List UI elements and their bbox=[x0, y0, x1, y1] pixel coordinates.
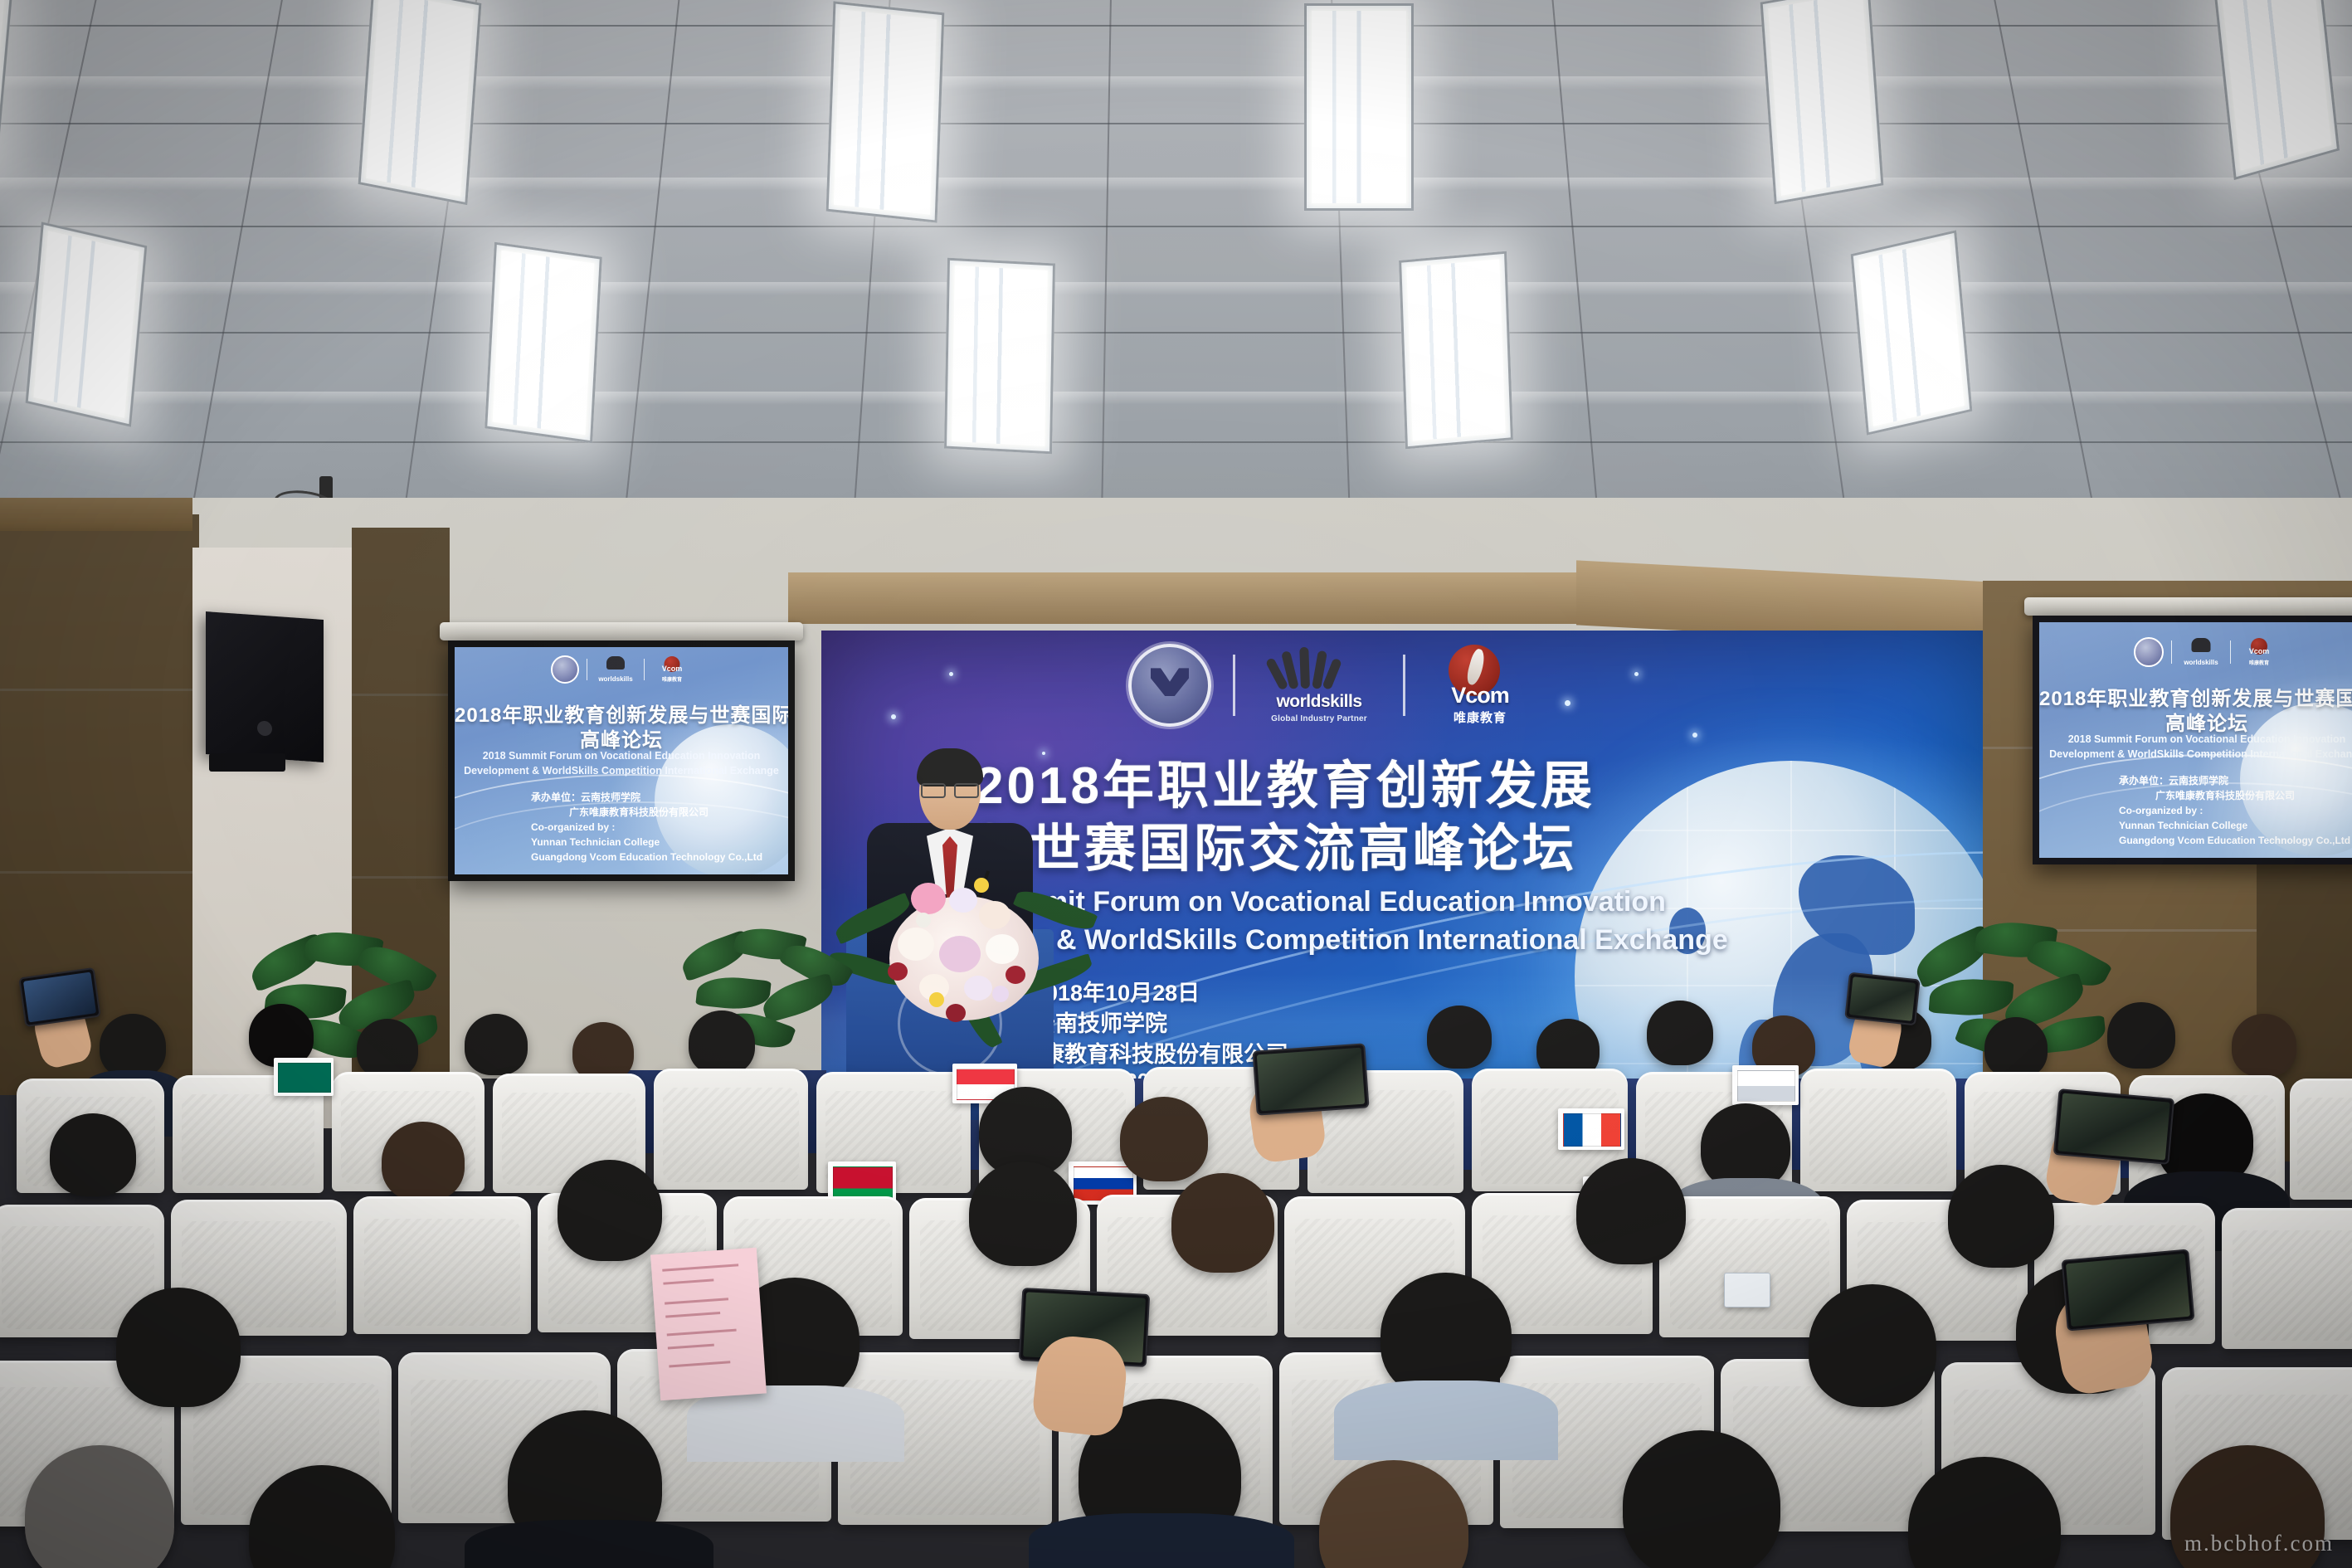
flag-icon bbox=[1737, 1070, 1796, 1102]
audience-head bbox=[1171, 1173, 1274, 1273]
vcom-chinese-name: 唯康教育 bbox=[1427, 709, 1533, 726]
audience-head bbox=[689, 1010, 755, 1075]
agenda-handout bbox=[650, 1248, 767, 1401]
slide-info-cn-host1: 承办单位：云南技师学院 bbox=[2119, 773, 2228, 787]
attendee-badge bbox=[1724, 1273, 1770, 1307]
worldskills-wordmark: worldskills bbox=[2179, 659, 2223, 666]
flag-macau-icon bbox=[278, 1063, 331, 1093]
slide-info-cn-host2: 广东唯康教育科技股份有限公司 bbox=[569, 805, 709, 819]
screen-frame-left: worldskills Vcom 唯康教育 2018年职业教育创新发展与世赛国际… bbox=[448, 640, 795, 881]
slide-left: worldskills Vcom 唯康教育 2018年职业教育创新发展与世赛国际… bbox=[455, 647, 788, 874]
vcom-wordmark: Vcom bbox=[1427, 683, 1533, 709]
slide-info-en-label: Co-organized by : bbox=[2119, 805, 2203, 816]
vcom-chinese-name: 唯康教育 bbox=[2238, 659, 2280, 666]
seat bbox=[654, 1069, 808, 1190]
audience-head bbox=[1120, 1097, 1208, 1181]
banner-logo-row: worldskills Global Industry Partner Vcom… bbox=[1128, 644, 1533, 727]
seat bbox=[2222, 1208, 2352, 1349]
phone-screen bbox=[2057, 1093, 2170, 1160]
seat bbox=[1659, 1196, 1840, 1337]
worldskills-logo-icon: worldskills Global Industry Partner bbox=[1257, 645, 1381, 725]
seat bbox=[2290, 1079, 2352, 1200]
vcom-logo-icon: Vcom 唯康教育 bbox=[1427, 645, 1533, 726]
worldskills-tagline: Global Industry Partner bbox=[1257, 714, 1381, 723]
slide-info-cn-host1: 承办单位：云南技师学院 bbox=[531, 790, 640, 804]
college-badge-icon bbox=[2134, 637, 2164, 667]
speaker-hair bbox=[917, 748, 983, 786]
audience-head bbox=[1948, 1165, 2054, 1268]
smartphone bbox=[2062, 1249, 2195, 1331]
screen-frame-right: worldskills Vcom 唯康教育 2018年职业教育创新发展与世赛国际… bbox=[2033, 616, 2352, 864]
slide-title-en-line1: 2018 Summit Forum on Vocational Educatio… bbox=[2039, 733, 2352, 745]
audience-head bbox=[1647, 1001, 1713, 1065]
slide-logo-row-left: worldskills Vcom 唯康教育 bbox=[455, 655, 788, 684]
vcom-logo-icon: Vcom 唯康教育 bbox=[2238, 638, 2280, 666]
phone-screen bbox=[23, 972, 96, 1023]
watermark-text: m.bcbhof.com bbox=[2184, 1531, 2334, 1556]
worldskills-logo-icon: worldskills bbox=[595, 656, 636, 683]
seat bbox=[1800, 1069, 1956, 1191]
slide-info-cn-host2: 广东唯康教育科技股份有限公司 bbox=[2155, 788, 2295, 802]
phone-screen bbox=[1849, 976, 1916, 1021]
flag-france-icon bbox=[1563, 1113, 1622, 1147]
audience-head bbox=[558, 1160, 662, 1261]
slide-title-en-line1: 2018 Summit Forum on Vocational Educatio… bbox=[455, 750, 788, 762]
slide-logo-row-right: worldskills Vcom 唯康教育 bbox=[2039, 637, 2352, 667]
worldskills-wordmark: worldskills bbox=[1257, 692, 1381, 712]
delegation-flag-card-france bbox=[1558, 1108, 1624, 1150]
smartphone bbox=[1252, 1043, 1369, 1115]
ceiling-light bbox=[1304, 3, 1414, 211]
audience-shoulders bbox=[1334, 1381, 1558, 1460]
smartphone bbox=[18, 967, 100, 1027]
audience-head bbox=[1809, 1284, 1936, 1407]
left-projection-screen: worldskills Vcom 唯康教育 2018年职业教育创新发展与世赛国际… bbox=[448, 640, 795, 881]
screen-roller-right bbox=[2024, 597, 2352, 616]
delegation-flag-card bbox=[1732, 1065, 1799, 1105]
slide-info-en-host1: Yunnan Technician College bbox=[531, 836, 660, 848]
smartphone bbox=[2053, 1088, 2174, 1165]
audience-head bbox=[382, 1122, 465, 1201]
slide-title-en-line2: Development & WorldSkills Competition In… bbox=[2039, 748, 2352, 760]
audience-head bbox=[1623, 1430, 1780, 1568]
ceiling-light bbox=[1760, 0, 1884, 204]
screen-roller-left bbox=[440, 622, 803, 640]
yunnan-technician-college-logo-icon bbox=[1128, 644, 1211, 727]
speaker-driver bbox=[257, 721, 272, 737]
audience-head bbox=[969, 1161, 1077, 1266]
slide-title-cn-line2: 高峰论坛 bbox=[455, 723, 788, 752]
slide-info-en-host2: Guangdong Vcom Education Technology Co.,… bbox=[531, 851, 762, 863]
audience-head bbox=[2232, 1014, 2296, 1077]
wall-speaker bbox=[206, 611, 324, 762]
smartphone bbox=[1844, 972, 1920, 1026]
ceiling-light bbox=[826, 1, 945, 222]
audience-head bbox=[1984, 1017, 2048, 1079]
audience-shoulders bbox=[687, 1385, 904, 1462]
audience-head bbox=[2107, 1002, 2175, 1069]
ceiling-light bbox=[2213, 0, 2340, 180]
ceiling-beam bbox=[788, 572, 1701, 624]
phone-screen bbox=[1257, 1048, 1365, 1112]
raised-hand bbox=[1030, 1333, 1130, 1439]
logo-divider-2 bbox=[1403, 655, 1405, 716]
logo-divider bbox=[1233, 655, 1235, 716]
slide-title-cn-line2: 高峰论坛 bbox=[2039, 707, 2352, 736]
delegation-flag-card-macau bbox=[274, 1058, 334, 1096]
phone-screen bbox=[2066, 1254, 2190, 1327]
audience-head bbox=[1427, 1006, 1492, 1069]
conference-hall-photo: worldskills Global Industry Partner Vcom… bbox=[0, 0, 2352, 1568]
slide-info-en-host2: Guangdong Vcom Education Technology Co.,… bbox=[2119, 835, 2350, 846]
audience-head bbox=[1576, 1158, 1686, 1264]
ceiling-light bbox=[485, 242, 602, 444]
audience-head bbox=[357, 1019, 418, 1079]
vcom-logo-icon: Vcom 唯康教育 bbox=[652, 656, 692, 683]
vcom-wordmark: Vcom bbox=[652, 665, 692, 673]
speaker-bracket bbox=[209, 753, 285, 772]
audience-head bbox=[116, 1288, 241, 1407]
vcom-wordmark: Vcom bbox=[2238, 647, 2280, 655]
audience-shoulders bbox=[1029, 1513, 1294, 1568]
seat bbox=[353, 1196, 531, 1334]
ceiling-light bbox=[1399, 251, 1513, 450]
wall-panel-left-upper bbox=[0, 498, 192, 531]
audience-head bbox=[50, 1113, 136, 1196]
vcom-chinese-name: 唯康教育 bbox=[652, 675, 692, 683]
right-projection-screen: worldskills Vcom 唯康教育 2018年职业教育创新发展与世赛国际… bbox=[2033, 616, 2352, 864]
worldskills-wordmark: worldskills bbox=[595, 675, 636, 683]
slide-info-en-host1: Yunnan Technician College bbox=[2119, 820, 2247, 831]
audience-head bbox=[465, 1014, 528, 1075]
ceiling-light bbox=[944, 258, 1055, 455]
audience-head bbox=[1701, 1103, 1790, 1190]
speaker-glasses-icon bbox=[921, 783, 979, 795]
ceiling-light bbox=[1851, 230, 1973, 436]
audience-shoulders bbox=[465, 1520, 713, 1568]
slide-right: worldskills Vcom 唯康教育 2018年职业教育创新发展与世赛国际… bbox=[2039, 622, 2352, 858]
worldskills-logo-icon: worldskills bbox=[2179, 638, 2223, 666]
college-badge-icon bbox=[551, 655, 579, 684]
audience-head bbox=[100, 1014, 166, 1079]
worldskills-hand-icon bbox=[1278, 645, 1333, 689]
slide-info-en-label: Co-organized by : bbox=[531, 821, 615, 833]
ceiling-light bbox=[358, 0, 482, 205]
slide-title-en-line2: Development & WorldSkills Competition In… bbox=[455, 765, 788, 777]
ceiling-light bbox=[26, 222, 148, 427]
